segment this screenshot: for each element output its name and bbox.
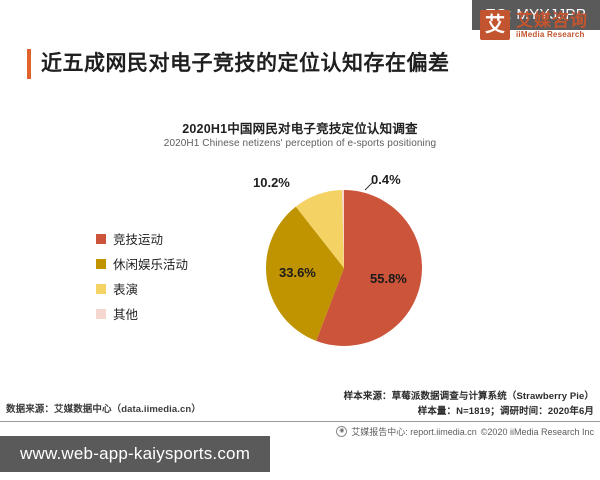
pie-value-label-3: 0.4% xyxy=(371,172,401,187)
legend-item-label: 竞技运动 xyxy=(113,229,163,248)
brand-name-cn: 艾媒咨询 xyxy=(516,11,588,30)
iimedia-logo: 艾 艾媒咨询 iiMedia Research xyxy=(480,10,588,40)
pie-value-label-0: 55.8% xyxy=(370,271,407,286)
chart-subtitle: 2020H1 Chinese netizens' perception of e… xyxy=(0,138,600,149)
chart-title: 2020H1中国网民对电子竞技定位认知调查 xyxy=(0,118,600,137)
title-accent-bar xyxy=(27,49,31,79)
brand-mark-icon: 艾 xyxy=(480,10,510,40)
legend-item[interactable]: 其他 xyxy=(96,301,188,326)
legend-item-label: 休闲娱乐活动 xyxy=(113,254,188,273)
brand-name-en: iiMedia Research xyxy=(516,30,588,40)
footer-divider xyxy=(0,421,600,422)
legend-item[interactable]: 表演 xyxy=(96,276,188,301)
chart-legend: 竞技运动 休闲娱乐活动 表演 其他 xyxy=(96,226,188,326)
legend-swatch-icon xyxy=(96,234,106,244)
report-center-line: ◉ 艾媒报告中心: report.iimedia.cn ©2020 iiMedi… xyxy=(336,425,594,438)
legend-item[interactable]: 休闲娱乐活动 xyxy=(96,251,188,276)
report-center-text: 艾媒报告中心: report.iimedia.cn xyxy=(351,425,477,438)
legend-swatch-icon xyxy=(96,309,106,319)
site-watermark: www.web-app-kaiysports.com xyxy=(0,436,270,472)
page-header: 近五成网民对电子竞技的定位认知存在偏差 xyxy=(0,44,600,90)
legend-item-label: 表演 xyxy=(113,279,138,298)
legend-swatch-icon xyxy=(96,284,106,294)
page-title: 近五成网民对电子竞技的定位认知存在偏差 xyxy=(41,45,450,83)
legend-swatch-icon xyxy=(96,259,106,269)
legend-item-label: 其他 xyxy=(113,304,138,323)
pie-value-label-2: 10.2% xyxy=(253,175,290,190)
pie-value-label-1: 33.6% xyxy=(279,265,316,280)
sample-size-text: 样本量：N=1819；调研时间：2020年6月 xyxy=(418,403,594,417)
globe-icon: ◉ xyxy=(336,426,347,437)
brand-text: 艾媒咨询 iiMedia Research xyxy=(516,11,588,40)
copyright-text: ©2020 iiMedia Research Inc xyxy=(481,427,594,437)
sample-source-text: 样本来源：草莓派数据调查与计算系统（Strawberry Pie） xyxy=(344,388,594,402)
legend-item[interactable]: 竞技运动 xyxy=(96,226,188,251)
data-source-text: 数据来源：艾媒数据中心（data.iimedia.cn） xyxy=(6,401,201,415)
